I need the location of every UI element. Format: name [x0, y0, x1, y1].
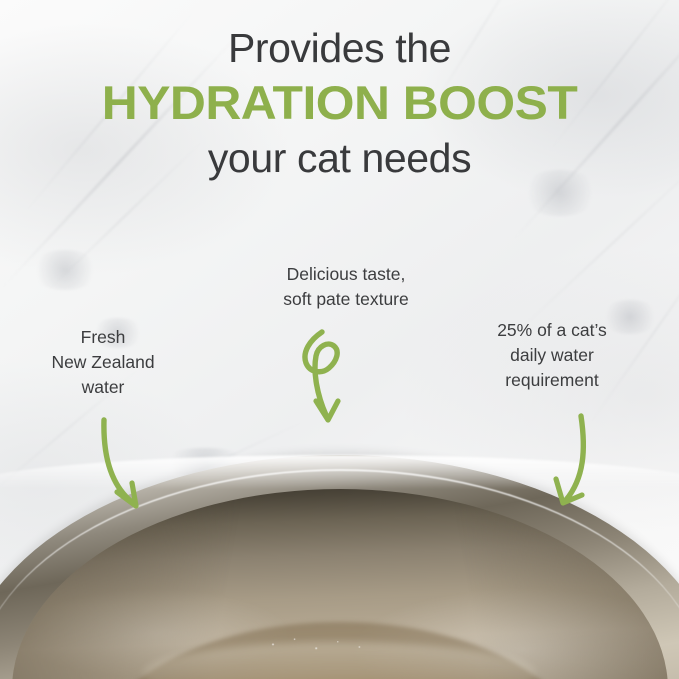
marble-speck [30, 250, 100, 290]
headline: Provides the HYDRATION BOOST your cat ne… [0, 22, 679, 184]
headline-line-2-accent: HYDRATION BOOST [0, 74, 679, 132]
broth-bubbles [261, 634, 381, 660]
headline-line-3: your cat needs [0, 132, 679, 184]
annotation-taste-texture-label: Delicious taste, soft pate texture [240, 262, 452, 312]
headline-line-1: Provides the [0, 22, 679, 74]
annotation-daily-water-label: 25% of a cat’s daily water requirement [462, 318, 642, 393]
promo-image: Provides the HYDRATION BOOST your cat ne… [0, 0, 679, 679]
food-bowl [0, 455, 679, 679]
annotation-fresh-water-label: Fresh New Zealand water [18, 325, 188, 400]
